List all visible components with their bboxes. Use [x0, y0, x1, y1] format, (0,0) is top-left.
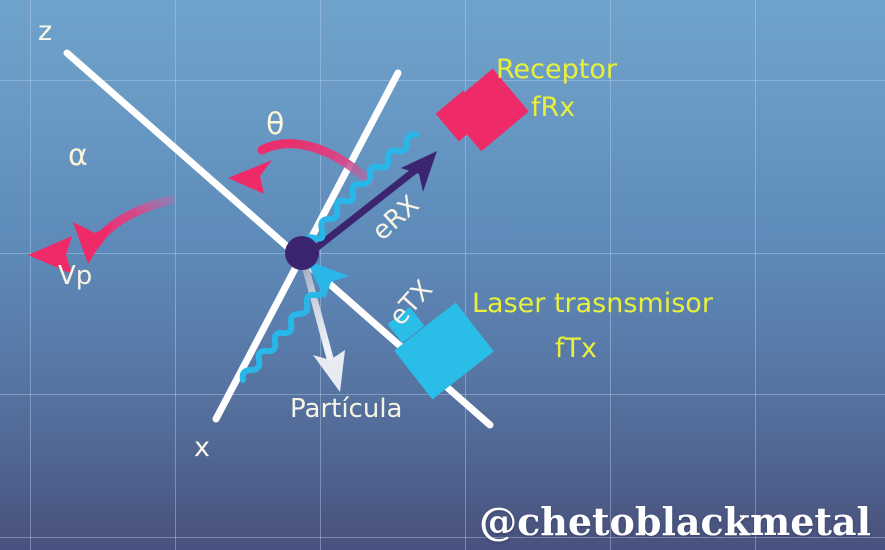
vector-graphics-layer: [0, 0, 885, 550]
velocity-vector-arrowhead: [28, 236, 72, 274]
theta-arc-arrowhead: [228, 160, 272, 194]
diagram-canvas: z x α θ Vp Partícula eRX eTX Receptor fR…: [0, 0, 885, 550]
watermark: @chetoblackmetal: [479, 499, 871, 544]
alpha-angle-arc: [97, 200, 170, 243]
erx-beam-arrowhead: [401, 151, 437, 192]
laser-transmitter-device[interactable]: [388, 303, 494, 400]
particle-dot: [285, 236, 319, 270]
receptor-device[interactable]: [436, 69, 529, 152]
